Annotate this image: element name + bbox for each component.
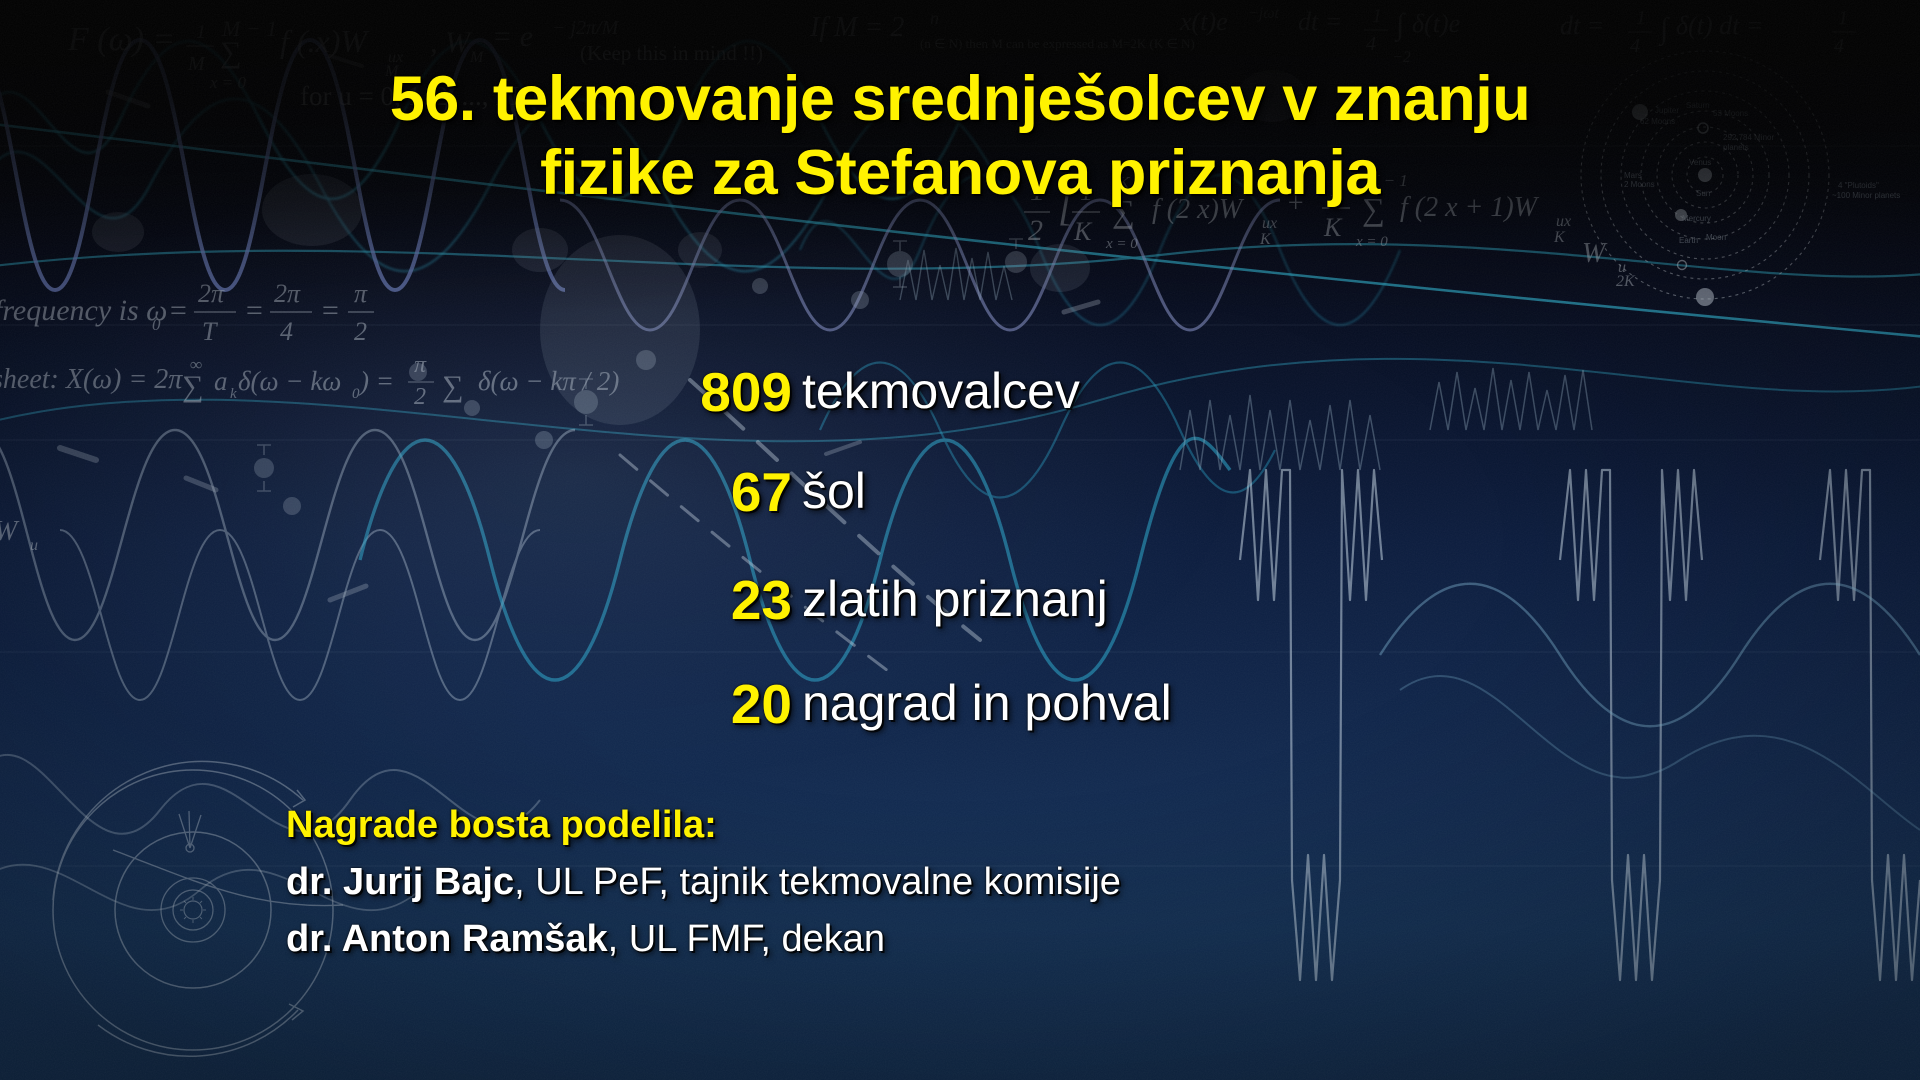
stat-label-gold-awards: zlatih priznanj xyxy=(802,574,1108,624)
presenter-row-2: dr. Anton Ramšak, UL FMF, dekan xyxy=(286,911,1121,967)
presenter-row-1: dr. Jurij Bajc, UL PeF, tajnik tekmovaln… xyxy=(286,854,1121,910)
stat-number-schools: 67 xyxy=(731,465,792,520)
stat-row-competitors: 809 tekmovalcev xyxy=(0,352,1920,370)
presenter-detail-1: , UL PeF, tajnik tekmovalne komisije xyxy=(514,861,1121,903)
presenter-name-1: dr. Jurij Bajc xyxy=(286,861,514,903)
awards-presenters-heading: Nagrade bosta podelila: xyxy=(286,802,1121,848)
awards-presenters-block: Nagrade bosta podelila: dr. Jurij Bajc, … xyxy=(286,802,1121,967)
stat-label-competitors: tekmovalcev xyxy=(802,366,1080,416)
title-line-1: 56. tekmovanje srednješolcev v znanju xyxy=(0,62,1920,136)
slide-title: 56. tekmovanje srednješolcev v znanju fi… xyxy=(0,62,1920,211)
stat-number-prizes: 20 xyxy=(731,677,792,732)
presenter-name-2: dr. Anton Ramšak xyxy=(286,918,608,960)
stat-row-gold-awards: 23 zlatih priznanj xyxy=(0,560,1920,578)
stat-row-prizes: 20 nagrad in pohval xyxy=(0,664,1920,682)
title-line-2: fizike za Stefanova priznanja xyxy=(0,136,1920,210)
slide-root: Saturn 53 Moons Jupiter 62 Moons 292,784… xyxy=(0,0,1920,1080)
slide-content: 56. tekmovanje srednješolcev v znanju fi… xyxy=(0,0,1920,1080)
presenter-detail-2: , UL FMF, dekan xyxy=(608,918,885,960)
stat-number-gold-awards: 23 xyxy=(731,573,792,628)
stat-row-schools: 67 šol xyxy=(0,452,1920,470)
stat-number-competitors: 809 xyxy=(700,365,792,420)
stat-label-prizes: nagrad in pohval xyxy=(802,678,1172,728)
stat-label-schools: šol xyxy=(802,466,866,516)
